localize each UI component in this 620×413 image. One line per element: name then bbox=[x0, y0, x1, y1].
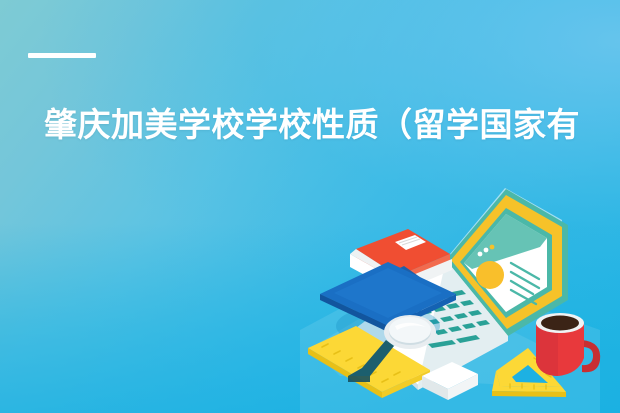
coffee-mug-icon bbox=[536, 313, 600, 376]
page-title: 肇庆加美学校学校性质（留学国家有 bbox=[44, 102, 620, 148]
accent-dash bbox=[28, 53, 96, 58]
banner-root: 肇庆加美学校学校性质（留学国家有 bbox=[0, 0, 620, 413]
coffee-liquid-icon bbox=[541, 316, 579, 331]
education-desk-illustration bbox=[300, 180, 620, 413]
